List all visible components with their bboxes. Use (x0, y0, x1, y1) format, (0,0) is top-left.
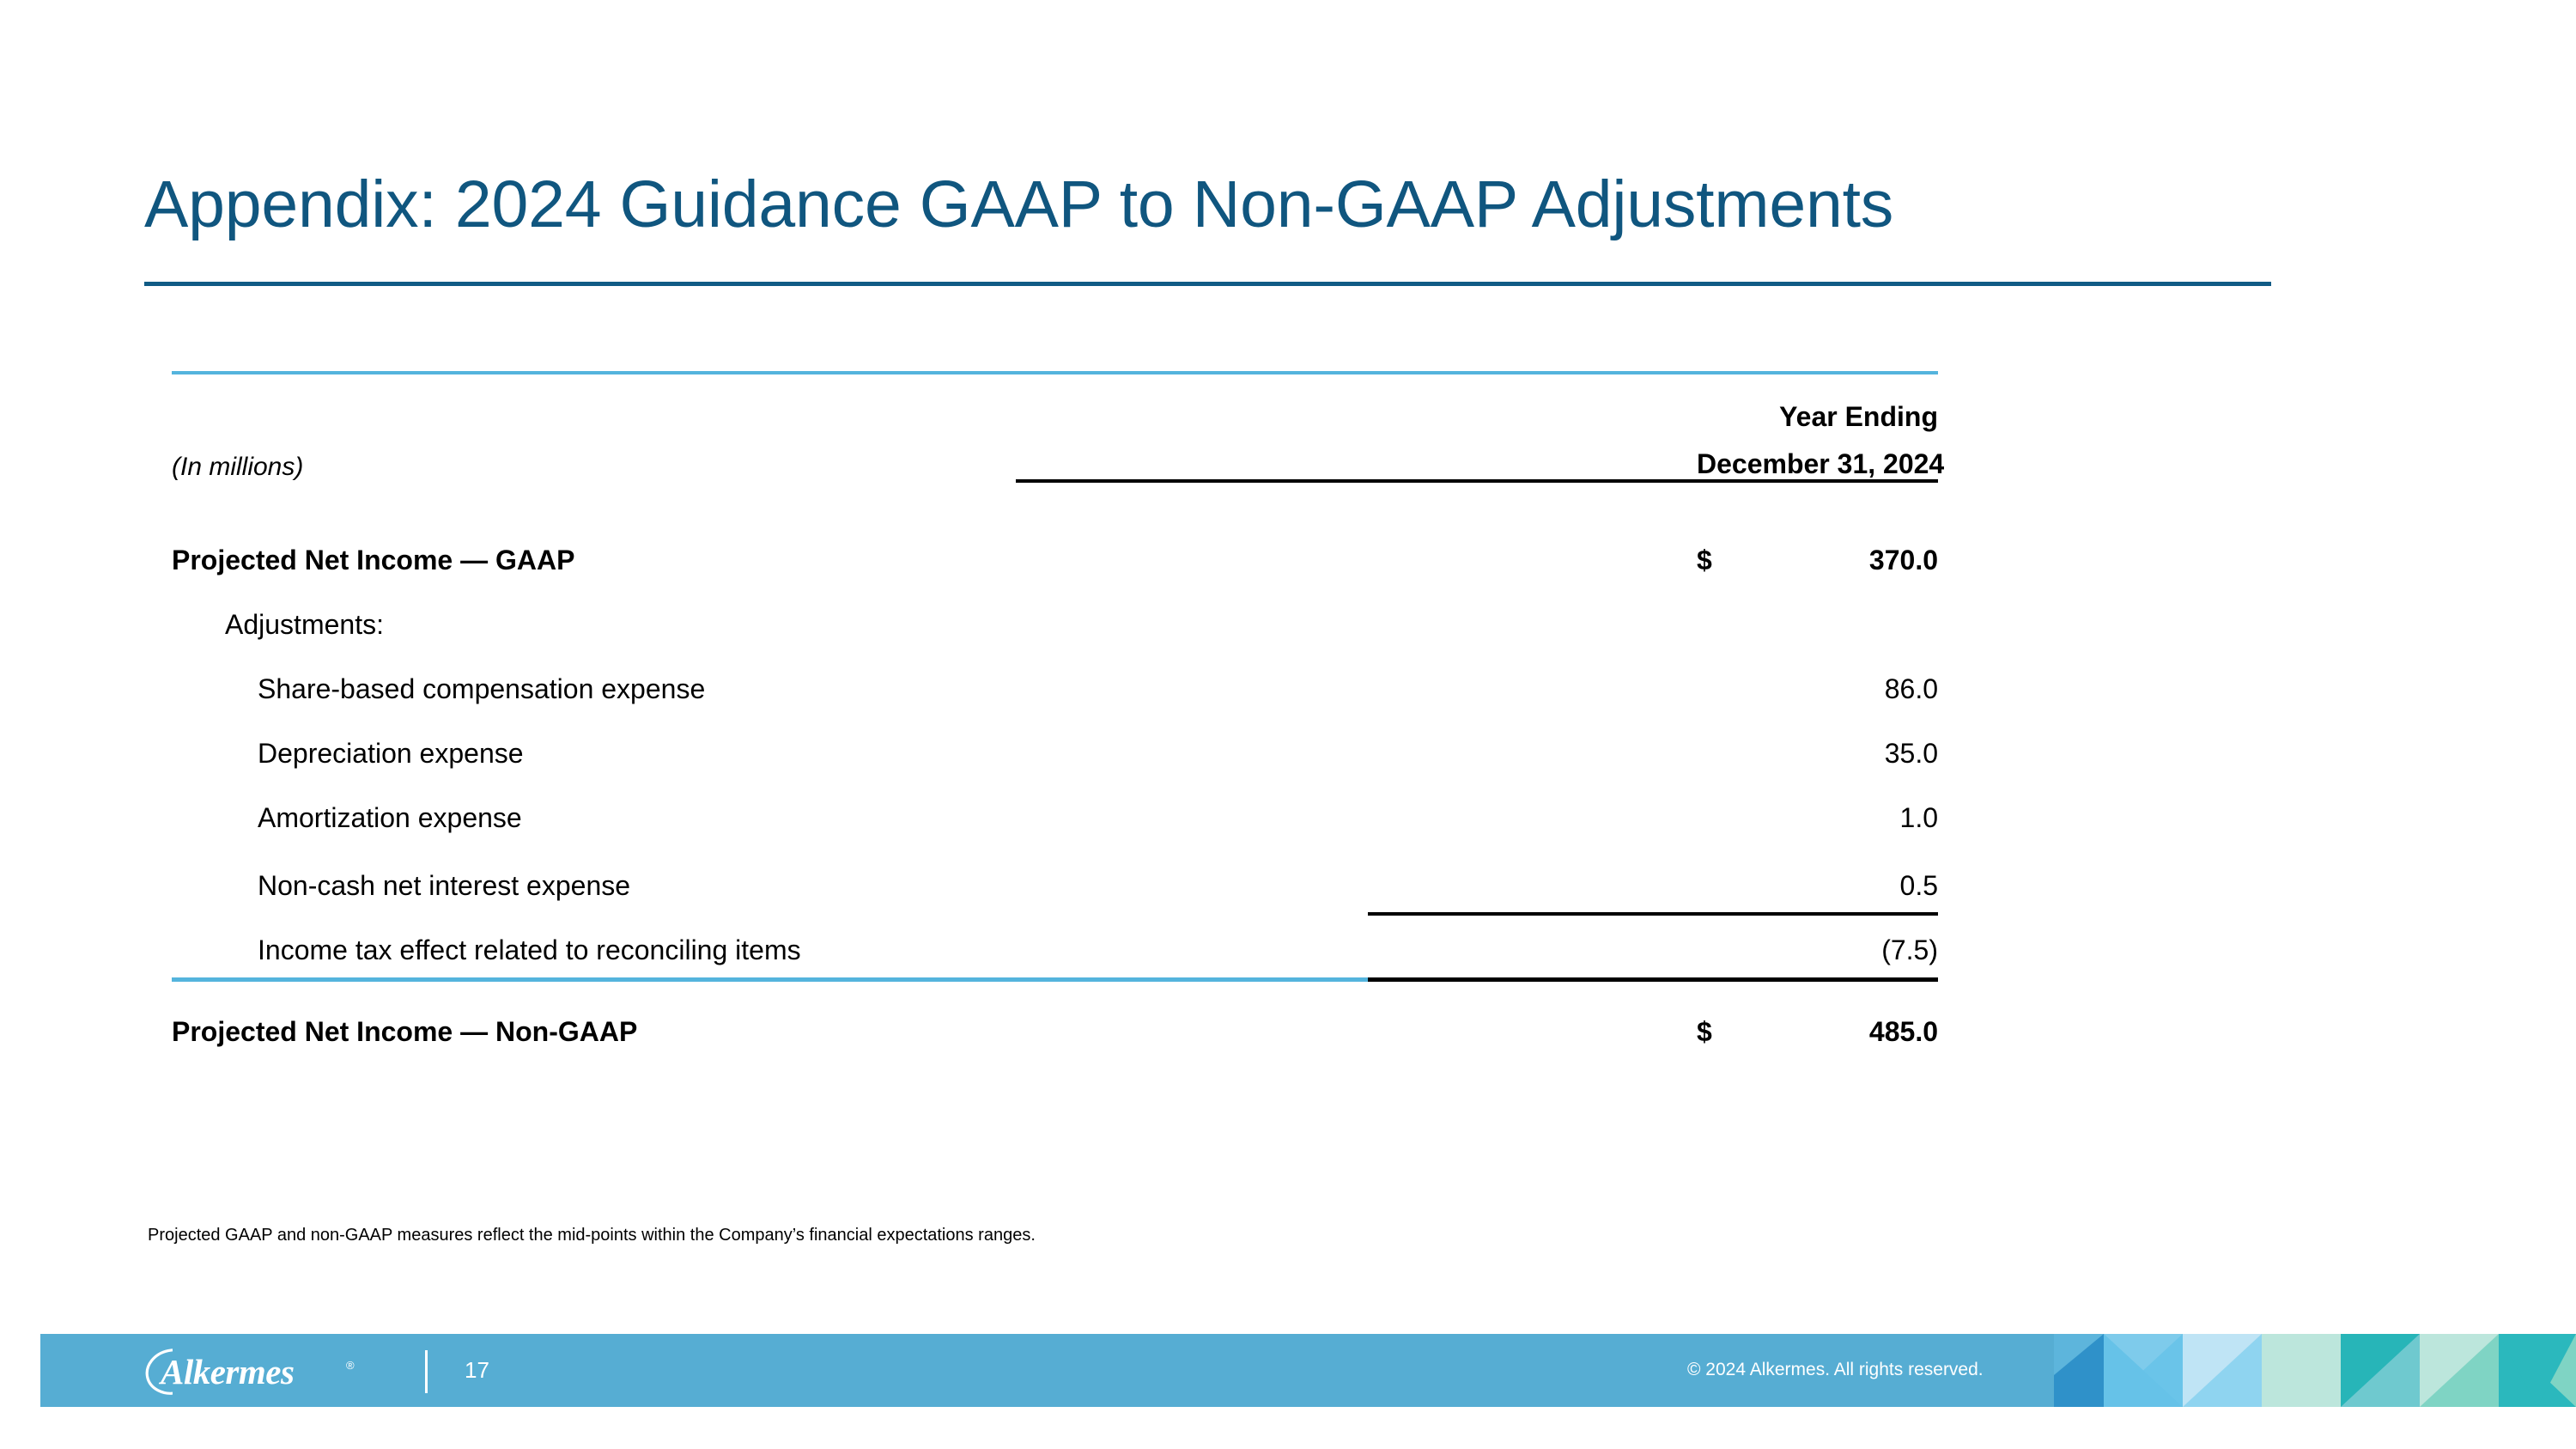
row-label: Projected Net Income — Non-GAAP (172, 964, 1188, 1045)
column-header-line1: Year Ending (1697, 401, 1938, 433)
row-value: 1.0 (1750, 767, 1938, 831)
footer-divider (425, 1350, 428, 1393)
svg-text:Alkermes: Alkermes (158, 1352, 294, 1391)
table-header-row-2: (In millions) December 31, 2024 (172, 433, 1938, 480)
table-header-underline (1016, 479, 1938, 483)
table-bottom-rule-blue (172, 977, 1368, 982)
alkermes-logo: Alkermes ® (143, 1349, 375, 1395)
svg-text:®: ® (346, 1359, 355, 1372)
row-currency (1697, 574, 1750, 638)
row-gap (1188, 831, 1697, 899)
footer-bar: Alkermes ® 17 © 2024 Alkermes. All right… (40, 1334, 2576, 1407)
row-currency (1697, 703, 1750, 767)
table-header-row-1: Year Ending (172, 401, 1938, 433)
row-gap (1188, 703, 1697, 767)
footnote-text: Projected GAAP and non-GAAP measures ref… (148, 1226, 1036, 1245)
table-top-rule (172, 371, 1938, 374)
table-row: Amortization expense 1.0 (172, 767, 1938, 831)
row-gap (1188, 480, 1697, 574)
table-row: Adjustments: (172, 574, 1938, 638)
row-gap (1188, 574, 1697, 638)
copyright-text: © 2024 Alkermes. All rights reserved. (1687, 1360, 1984, 1380)
row-value (1750, 574, 1938, 638)
row-label: Depreciation expense (172, 703, 1188, 767)
table-bottom-rule-black (1368, 977, 1938, 982)
row-currency: $ (1697, 480, 1750, 574)
column-header-line2: December 31, 2024 (1697, 433, 1938, 480)
row-label: Adjustments: (172, 574, 1188, 638)
table-row: Projected Net Income — GAAP $ 370.0 (172, 480, 1938, 574)
row-currency (1697, 638, 1750, 703)
title-underline-rule (144, 282, 2271, 286)
table-row: Non-cash net interest expense 0.5 (172, 831, 1938, 899)
row-value: (7.5) (1750, 899, 1938, 964)
table-subtotal-rule (1368, 912, 1938, 916)
row-value: 86.0 (1750, 638, 1938, 703)
row-label: Income tax effect related to reconciling… (172, 899, 1188, 964)
header-spacer-mid (1188, 401, 1697, 433)
row-gap (1188, 638, 1697, 703)
row-gap (1188, 964, 1697, 1045)
row-gap (1188, 899, 1697, 964)
row-value: 485.0 (1750, 964, 1938, 1045)
table-row: Depreciation expense 35.0 (172, 703, 1938, 767)
row-currency (1697, 899, 1750, 964)
row-label: Share-based compensation expense (172, 638, 1188, 703)
decorative-triangle-pattern (2054, 1334, 2576, 1407)
table-row: Income tax effect related to reconciling… (172, 899, 1938, 964)
header-spacer-left (172, 401, 1188, 433)
reconciliation-table: Year Ending (In millions) December 31, 2… (172, 369, 1938, 1045)
row-currency (1697, 767, 1750, 831)
row-currency (1697, 831, 1750, 899)
row-gap (1188, 767, 1697, 831)
row-value: 370.0 (1750, 480, 1938, 574)
row-value: 0.5 (1750, 831, 1938, 899)
row-label: Non-cash net interest expense (172, 831, 1188, 899)
units-label: (In millions) (172, 433, 1188, 480)
table-total-row: Projected Net Income — Non-GAAP $ 485.0 (172, 964, 1938, 1045)
row-currency: $ (1697, 964, 1750, 1045)
table-row: Share-based compensation expense 86.0 (172, 638, 1938, 703)
row-label: Amortization expense (172, 767, 1188, 831)
reconciliation-table-grid: Year Ending (In millions) December 31, 2… (172, 369, 1938, 1045)
page-number: 17 (465, 1357, 489, 1384)
row-value: 35.0 (1750, 703, 1938, 767)
row-label: Projected Net Income — GAAP (172, 480, 1188, 574)
header-spacer-mid-2 (1188, 433, 1697, 480)
page-title: Appendix: 2024 Guidance GAAP to Non-GAAP… (144, 170, 2274, 240)
